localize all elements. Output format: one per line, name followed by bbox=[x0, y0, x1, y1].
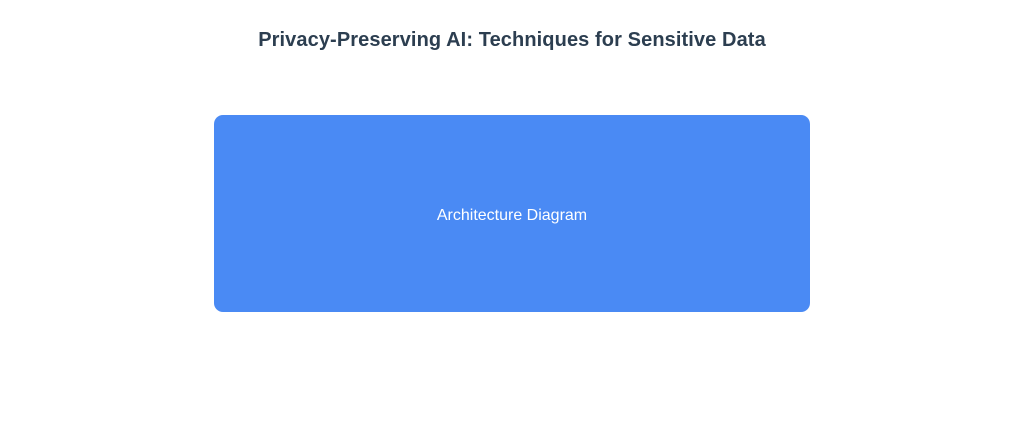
architecture-diagram-placeholder[interactable]: Architecture Diagram bbox=[214, 115, 810, 312]
architecture-diagram-placeholder-label: Architecture Diagram bbox=[437, 206, 587, 226]
page-title: Privacy-Preserving AI: Techniques for Se… bbox=[0, 26, 1024, 54]
slide-canvas: Privacy-Preserving AI: Techniques for Se… bbox=[0, 0, 1024, 429]
